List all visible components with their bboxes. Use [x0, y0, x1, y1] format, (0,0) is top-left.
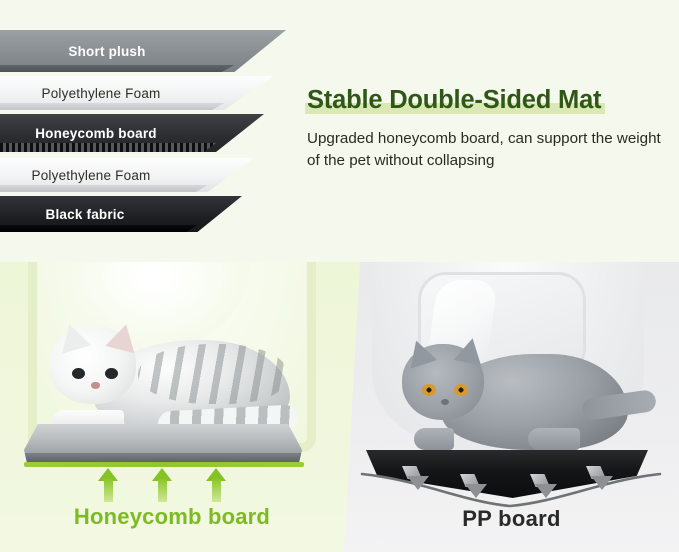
down-arrow-icon: [402, 466, 432, 496]
layer-slab-short-plush: Short plush: [0, 30, 286, 72]
layer-label-black-fabric: Black fabric: [0, 207, 242, 222]
comparison-right-panel: PP board: [344, 262, 679, 552]
page-title: Stable Double-Sided Mat: [307, 86, 601, 114]
top-section: Short plush Polyethylene Foam Honeycomb …: [0, 0, 679, 262]
cat-photo-left: [42, 314, 292, 442]
cat-nose: [91, 382, 100, 389]
up-arrow-icon: [152, 468, 172, 502]
down-arrow-icon: [460, 474, 490, 504]
layer-label-short-plush: Short plush: [0, 44, 286, 59]
slab-edge: [0, 65, 286, 72]
layer-stack-diagram: Short plush Polyethylene Foam Honeycomb …: [0, 30, 294, 245]
cat-head: [402, 344, 484, 420]
layer-slab-foam-upper: Polyethylene Foam: [0, 76, 274, 110]
page-subtitle: Upgraded honeycomb board, can support th…: [307, 128, 667, 172]
cat-eye-left: [72, 368, 85, 379]
cat-photo-right: [396, 330, 636, 460]
cat-paw-right: [528, 428, 580, 450]
headline-block: Stable Double-Sided Mat Upgraded honeyco…: [307, 86, 667, 172]
layer-slab-black-fabric: Black fabric: [0, 196, 242, 232]
comparison-section: Honeycomb board: [0, 262, 679, 552]
cat-ear-right: [105, 321, 140, 353]
up-arrow-icon: [206, 468, 226, 502]
title-wrapper: Stable Double-Sided Mat: [307, 86, 601, 115]
left-caption-label: Honeycomb board: [0, 504, 344, 530]
cat-stripes: [138, 344, 286, 404]
product-infographic: Short plush Polyethylene Foam Honeycomb …: [0, 0, 679, 552]
layer-slab-foam-lower: Polyethylene Foam: [0, 158, 254, 192]
cat-paw-left: [414, 428, 454, 450]
cat-head: [50, 326, 136, 404]
cat-ear-left: [403, 336, 437, 368]
cat-eye-right: [105, 368, 118, 379]
cat-ear-left: [55, 320, 91, 353]
layer-slab-honeycomb-board: Honeycomb board: [0, 114, 264, 152]
support-line-straight: [24, 462, 304, 467]
slab-edge: [0, 225, 242, 232]
cat-ear-right: [454, 335, 487, 365]
down-arrow-icon: [530, 474, 560, 504]
honeycomb-mat-flat: [24, 424, 302, 462]
cat-eye-right: [454, 384, 468, 396]
cat-nose: [441, 399, 449, 405]
layer-label-foam-lower: Polyethylene Foam: [0, 168, 254, 183]
up-arrow-icon: [98, 468, 118, 502]
down-arrow-icon: [586, 466, 616, 496]
slab-edge: [0, 185, 254, 192]
layer-label-honeycomb-board: Honeycomb board: [0, 126, 264, 141]
layer-label-foam-upper: Polyethylene Foam: [0, 86, 274, 101]
right-caption-label: PP board: [344, 506, 679, 532]
cat-eye-left: [422, 384, 436, 396]
comparison-left-panel: Honeycomb board: [0, 262, 344, 552]
